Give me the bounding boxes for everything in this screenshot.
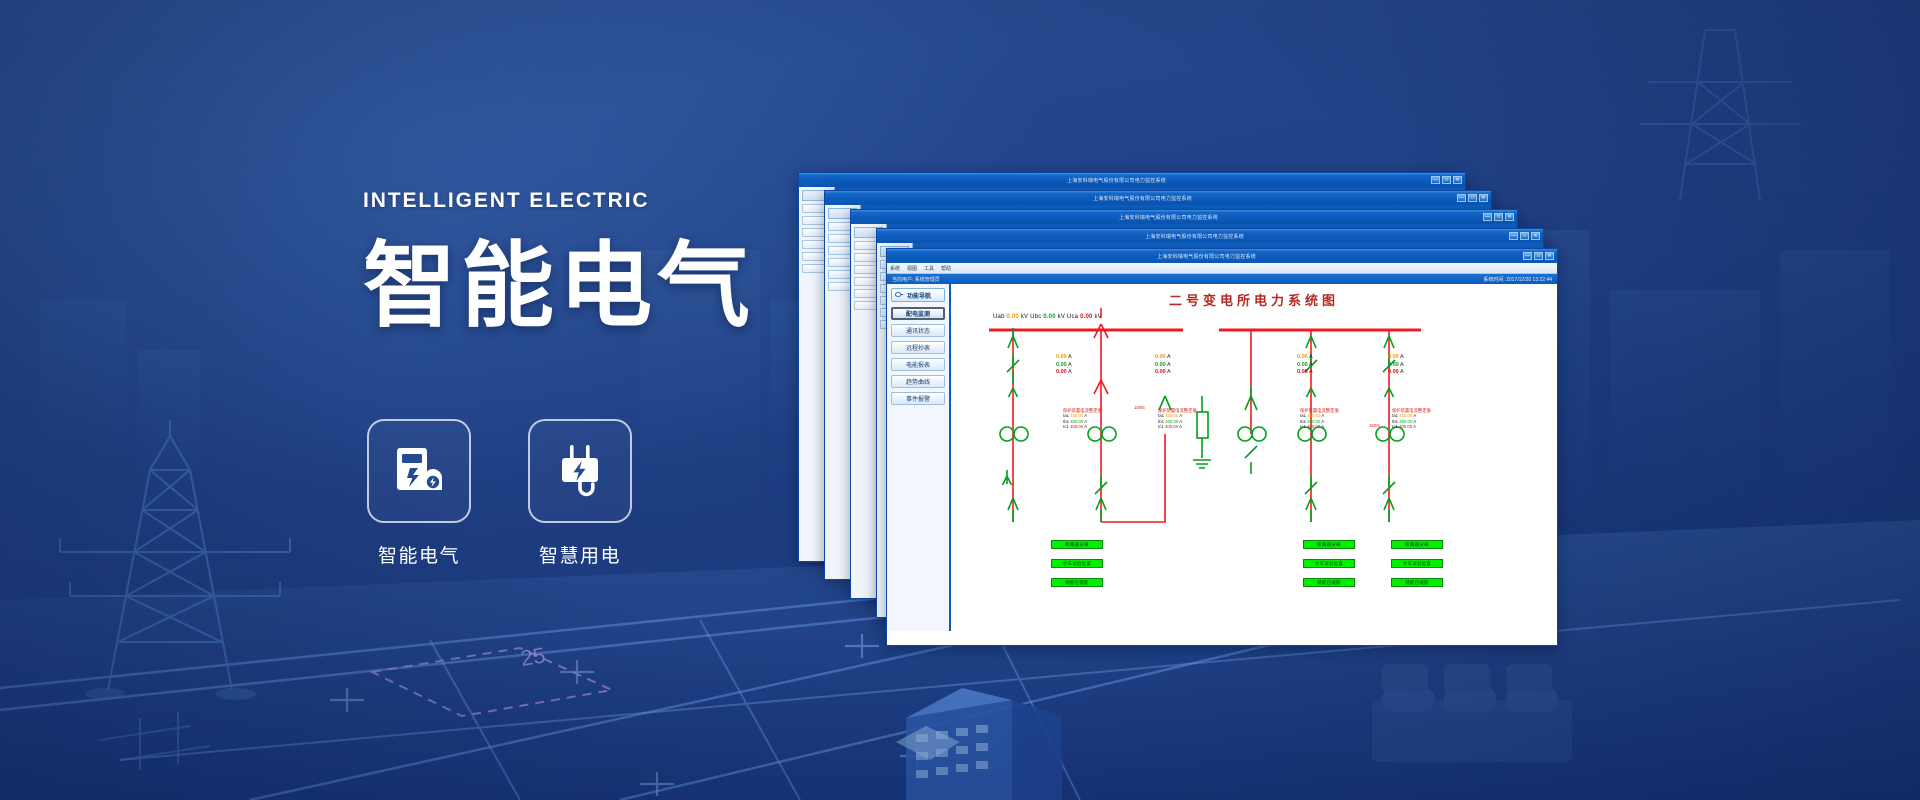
maximize-button[interactable]: □ — [1442, 176, 1451, 184]
status-button-spring-charged-3[interactable]: 储能已储能 — [1391, 578, 1443, 587]
window-title: 上海安科瑞电气股份有限公司电力监控系统 — [890, 253, 1523, 260]
setting-name: Ib1 — [1300, 419, 1306, 424]
sidebar-item-label: 事件报警 — [906, 394, 930, 403]
sidebar-header: 功能导航 — [891, 288, 945, 302]
setting-name: Ic1 — [1300, 424, 1306, 429]
status-button-truck-test-position-2[interactable]: 手车试验位置 — [1303, 559, 1355, 568]
window-title: 上海安科瑞电气股份有限公司电力监控系统 — [802, 177, 1431, 184]
window-body: 系统 视图 工具 帮助 当前用户: 系统管理员 系统时间: 2017/12/20… — [887, 263, 1557, 645]
sidebar-item-label: 远程抄表 — [906, 343, 930, 352]
sidebar-item-event-alarm[interactable]: 事件报警 — [891, 392, 945, 405]
window-controls[interactable]: — □ ✕ — [1431, 176, 1462, 184]
setting-name: Ia1 — [1158, 413, 1164, 418]
status-button-breaker-open-3[interactable]: 断路器分闸 — [1391, 540, 1443, 549]
status-button-spring-charged-1[interactable]: 储能已储能 — [1051, 578, 1103, 587]
setting-name: Ia1 — [1392, 413, 1398, 418]
current-value: 0.00 — [1155, 369, 1166, 375]
setting-name: Ic1 — [1063, 424, 1069, 429]
maximize-button[interactable]: □ — [1520, 232, 1529, 240]
sidebar-item-power-monitoring[interactable]: 配电监测 — [891, 307, 945, 320]
setting-name: Ib1 — [1158, 419, 1164, 424]
current-value: 0.00 — [1388, 362, 1399, 368]
window-titlebar[interactable]: 上海安科瑞电气股份有限公司电力监控系统 — □ ✕ — [887, 249, 1557, 263]
current-unit: A — [1400, 354, 1404, 360]
setting-value: 400.00 — [1307, 419, 1320, 424]
current-value: 0.00 — [1056, 354, 1067, 360]
status-button-truck-test-position-1[interactable]: 手车试验位置 — [1051, 559, 1103, 568]
setting-value: 400.00 — [1165, 413, 1178, 418]
current-value: 0.00 — [1297, 362, 1308, 368]
menu-item-tools[interactable]: 工具 — [924, 265, 934, 272]
current-unit: A — [1167, 354, 1171, 360]
sidebar-header-label: 功能导航 — [907, 291, 931, 300]
maximize-button[interactable]: □ — [1468, 194, 1477, 202]
schematic-drawing — [951, 284, 1557, 631]
minimize-button[interactable]: — — [1523, 252, 1532, 260]
current-readout-block-4: 0.00 A 0.00 A 0.00 A — [1388, 354, 1404, 377]
sidebar-item-trend-curve[interactable]: 趋势曲线 — [891, 375, 945, 388]
close-button[interactable]: ✕ — [1545, 252, 1554, 260]
current-value: 0.00 — [1388, 369, 1399, 375]
current-unit: A — [1167, 362, 1171, 368]
status-button-breaker-open-1[interactable]: 断路器分闸 — [1051, 540, 1103, 549]
window-titlebar[interactable]: 上海安科瑞电气股份有限公司电力监控系统 — □ ✕ — [877, 229, 1543, 243]
current-value: 0.00 — [1297, 369, 1308, 375]
setting-name: Ic1 — [1392, 424, 1398, 429]
function-navigation-sidebar[interactable]: 功能导航 配电监测 通讯状态 远程抄表 电能报表 趋势曲线 — [887, 284, 951, 631]
setting-name: Ia1 — [1063, 413, 1069, 418]
window-title: 上海安科瑞电气股份有限公司电力监控系统 — [854, 214, 1483, 221]
window-controls[interactable]: — □ ✕ — [1509, 232, 1540, 240]
window-title: 上海安科瑞电气股份有限公司电力监控系统 — [880, 233, 1509, 240]
setting-unit: A — [1084, 419, 1087, 424]
protection-setting-box-3: 保护装置电流整定值: Ia1 400.00 A Ib1 400.00 A Ic1… — [1300, 408, 1340, 430]
sidebar-item-label: 电能报表 — [906, 360, 930, 369]
setting-unit: A — [1413, 424, 1416, 429]
maximize-button[interactable]: □ — [1534, 252, 1543, 260]
setting-value: 400.00 — [1070, 413, 1083, 418]
setting-value: 400.00 — [1070, 424, 1083, 429]
protection-setting-box-1: 保护装置电流整定值: Ia1 400.00 A Ib1 400.00 A Ic1… — [1063, 408, 1103, 430]
current-readout-block-2: 0.00 A 0.00 A 0.00 A — [1155, 354, 1171, 377]
info-bar: 当前用户: 系统管理员 系统时间: 2017/12/20 13:22:44 — [887, 274, 1557, 284]
setting-name: Ib1 — [1392, 419, 1398, 424]
current-unit: A — [1309, 354, 1313, 360]
close-button[interactable]: ✕ — [1453, 176, 1462, 184]
current-unit: A — [1400, 369, 1404, 375]
current-unit: A — [1167, 369, 1171, 375]
current-unit: A — [1309, 362, 1313, 368]
close-button[interactable]: ✕ — [1479, 194, 1488, 202]
menu-item-help[interactable]: 帮助 — [941, 265, 951, 272]
protection-setting-box-4: 保护装置电流整定值: Ia1 400.00 A Ib1 400.00 A Ic1… — [1392, 408, 1432, 430]
current-user-label: 当前用户: 系统管理员 — [892, 276, 940, 283]
foreground-window[interactable]: 上海安科瑞电气股份有限公司电力监控系统 — □ ✕ 系统 视图 工具 帮助 当前… — [886, 248, 1558, 646]
current-unit: A — [1068, 362, 1072, 368]
status-button-spring-charged-2[interactable]: 储能已储能 — [1303, 578, 1355, 587]
setting-value: 400.00 — [1307, 424, 1320, 429]
window-main-area: 功能导航 配电监测 通讯状态 远程抄表 电能报表 趋势曲线 — [887, 284, 1557, 631]
sidebar-item-energy-report[interactable]: 电能报表 — [891, 358, 945, 371]
window-controls[interactable]: — □ ✕ — [1483, 213, 1514, 221]
current-readout-block-3: 0.00 A 0.00 A 0.00 A — [1297, 354, 1313, 377]
system-time-label: 系统时间: 2017/12/20 13:22:44 — [1483, 276, 1552, 283]
current-value: 0.00 — [1155, 354, 1166, 360]
sidebar-item-label: 趋势曲线 — [906, 377, 930, 386]
setting-value: 400.00 — [1070, 419, 1083, 424]
current-unit: A — [1400, 362, 1404, 368]
maximize-button[interactable]: □ — [1494, 213, 1503, 221]
setting-value: 400.00 — [1399, 413, 1412, 418]
setting-name: Ic1 — [1158, 424, 1164, 429]
menu-item-view[interactable]: 视图 — [907, 265, 917, 272]
menubar[interactable]: 系统 视图 工具 帮助 — [887, 263, 1557, 274]
close-button[interactable]: ✕ — [1505, 213, 1514, 221]
minimize-button[interactable]: — — [1509, 232, 1518, 240]
setting-unit: A — [1321, 413, 1324, 418]
current-readout-block-1: 0.00 A 0.00 A 0.00 A — [1056, 354, 1072, 377]
minimize-button[interactable]: — — [1457, 194, 1466, 202]
ct-ratio-label-2: 150/5 — [1369, 423, 1380, 428]
close-button[interactable]: ✕ — [1531, 232, 1540, 240]
ct-ratio-label-1: 150/5 — [1134, 405, 1145, 410]
current-value: 0.00 — [1297, 354, 1308, 360]
current-unit: A — [1309, 369, 1313, 375]
single-line-diagram-canvas[interactable]: 二号变电所电力系统图 Uab 0.00 kV Ubc 0.00 kV Uca 0… — [951, 284, 1557, 631]
status-button-truck-test-position-3[interactable]: 手车试验位置 — [1391, 559, 1443, 568]
window-titlebar[interactable]: 上海安科瑞电气股份有限公司电力监控系统 — □ ✕ — [825, 191, 1491, 205]
setting-unit: A — [1413, 413, 1416, 418]
setting-name: Ib1 — [1063, 419, 1069, 424]
window-titlebar[interactable]: 上海安科瑞电气股份有限公司电力监控系统 — □ ✕ — [799, 173, 1465, 187]
setting-unit: A — [1179, 419, 1182, 424]
setting-unit: A — [1321, 419, 1324, 424]
current-value: 0.00 — [1388, 354, 1399, 360]
setting-value: 400.00 — [1307, 413, 1320, 418]
minimize-button[interactable]: — — [1431, 176, 1440, 184]
sidebar-item-label: 配电监测 — [906, 309, 930, 318]
window-controls[interactable]: — □ ✕ — [1457, 194, 1488, 202]
navigation-icon — [895, 291, 904, 300]
setting-unit: A — [1084, 413, 1087, 418]
setting-unit: A — [1179, 413, 1182, 418]
setting-name: Ia1 — [1300, 413, 1306, 418]
setting-value: 400.00 — [1399, 419, 1412, 424]
setting-value: 400.00 — [1165, 424, 1178, 429]
setting-value: 400.00 — [1165, 419, 1178, 424]
window-controls[interactable]: — □ ✕ — [1523, 252, 1554, 260]
setting-unit: A — [1179, 424, 1182, 429]
current-unit: A — [1068, 354, 1072, 360]
status-button-breaker-open-2[interactable]: 断路器分闸 — [1303, 540, 1355, 549]
setting-unit: A — [1084, 424, 1087, 429]
sidebar-item-comm-status[interactable]: 通讯状态 — [891, 324, 945, 337]
menu-item-system[interactable]: 系统 — [890, 265, 900, 272]
current-value: 0.00 — [1056, 369, 1067, 375]
current-value: 0.00 — [1056, 362, 1067, 368]
sidebar-item-label: 通讯状态 — [906, 326, 930, 335]
minimize-button[interactable]: — — [1483, 213, 1492, 221]
sidebar-item-remote-meter-reading[interactable]: 远程抄表 — [891, 341, 945, 354]
setting-unit: A — [1413, 419, 1416, 424]
current-value: 0.00 — [1155, 362, 1166, 368]
window-titlebar[interactable]: 上海安科瑞电气股份有限公司电力监控系统 — □ ✕ — [851, 210, 1517, 224]
setting-unit: A — [1321, 424, 1324, 429]
setting-value: 400.00 — [1399, 424, 1412, 429]
protection-setting-box-2: 保护装置电流整定值: Ia1 400.00 A Ib1 400.00 A Ic1… — [1158, 408, 1198, 430]
window-title: 上海安科瑞电气股份有限公司电力监控系统 — [828, 195, 1457, 202]
software-window-stack: 上海安科瑞电气股份有限公司电力监控系统 — □ ✕ 上海安科瑞电气股份有限公司电… — [0, 0, 1920, 800]
current-unit: A — [1068, 369, 1072, 375]
